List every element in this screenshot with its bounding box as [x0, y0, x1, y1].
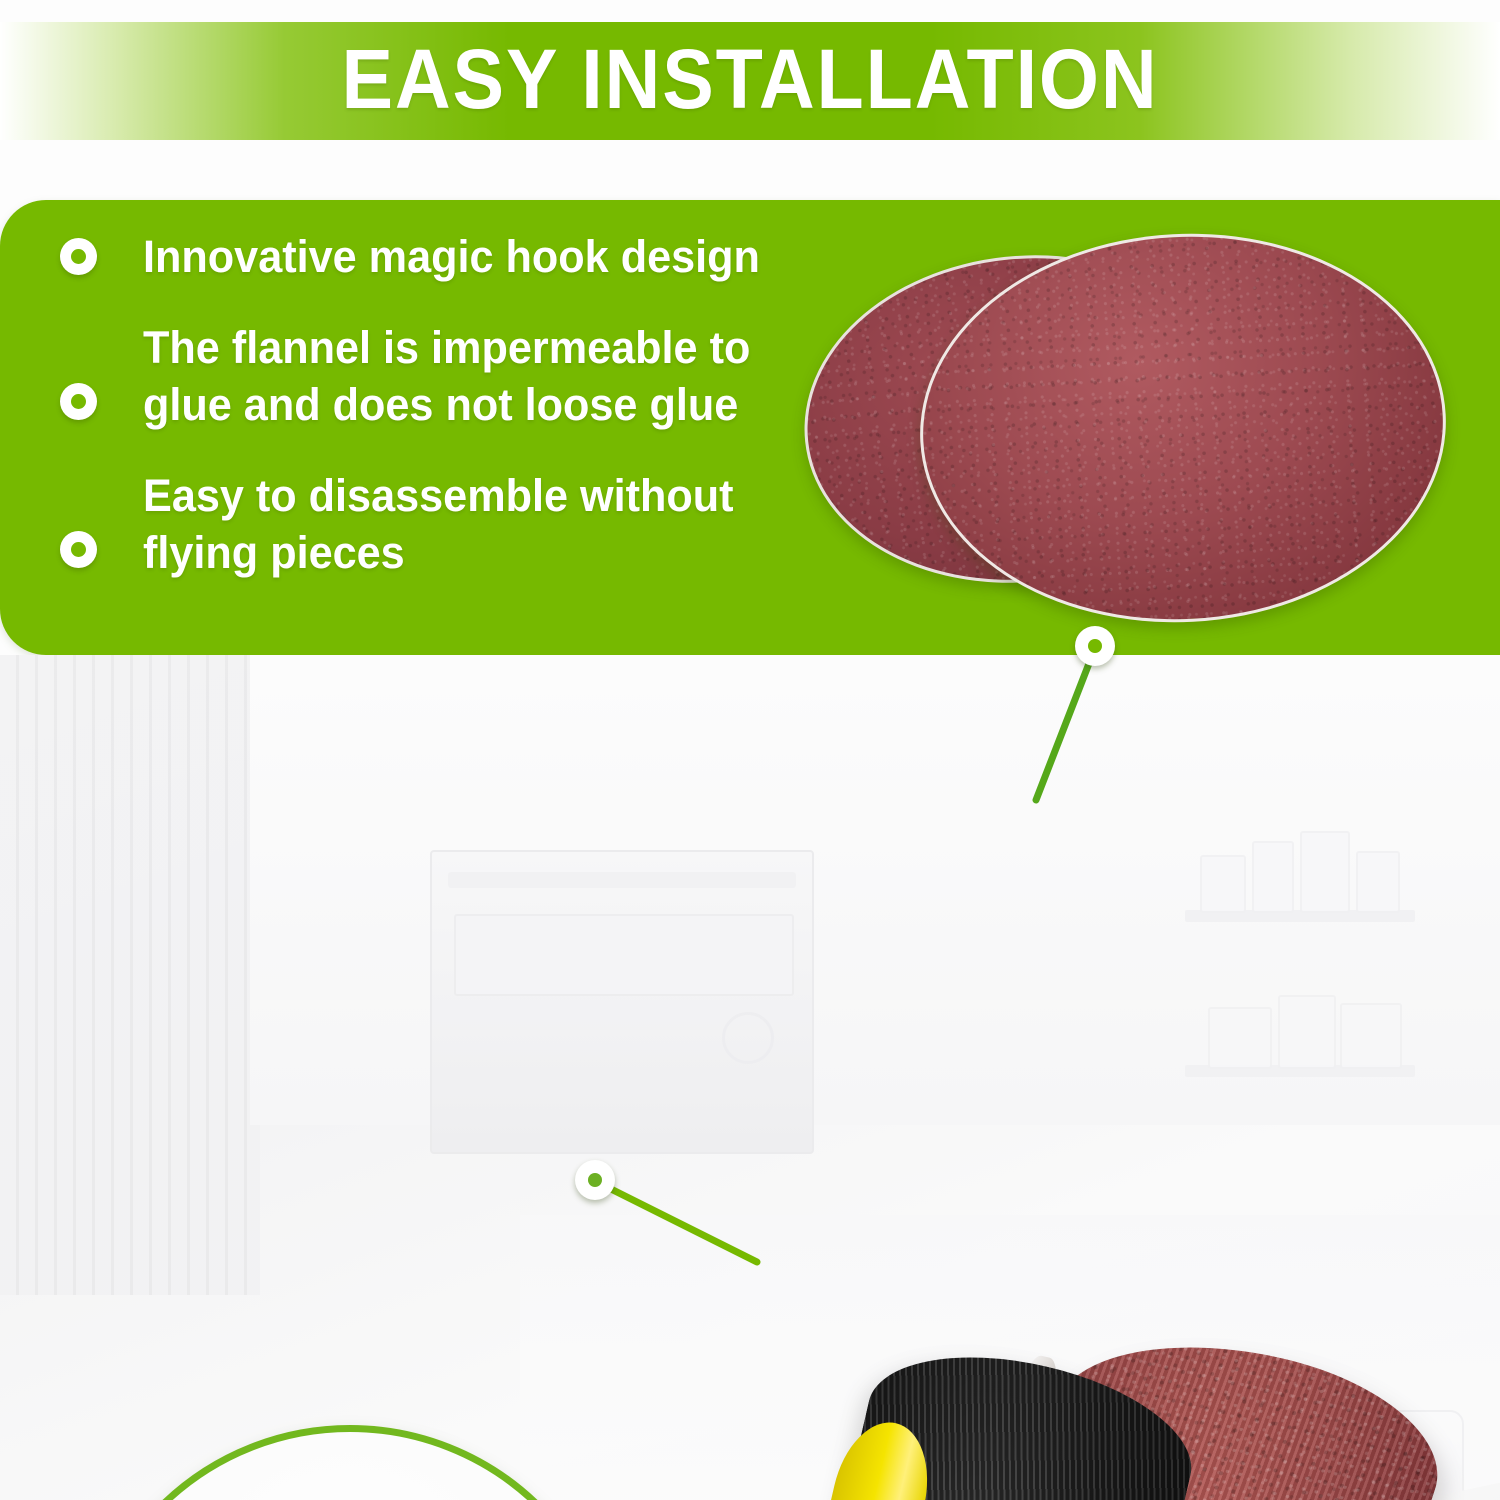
red-scouring-pads	[798, 228, 1458, 624]
photo-scene: RELEASE	[0, 655, 1500, 1500]
infographic-page: EASY INSTALLATION Innovative magic hook …	[0, 0, 1500, 1500]
oven-window	[454, 914, 794, 996]
ring-bullet-icon	[60, 531, 97, 568]
list-item: Easy to disassemble without flying piece…	[60, 467, 800, 581]
kitchen-jar	[1252, 841, 1294, 913]
kitchen-cabinet-left	[0, 655, 260, 1295]
kitchen-oven	[430, 850, 814, 1154]
callout-dot-red-pad	[1075, 626, 1115, 666]
kitchen-jar	[1300, 831, 1350, 913]
oven-handle	[448, 872, 796, 888]
ring-bullet-icon	[60, 383, 97, 420]
feature-item-label: The flannel is impermeable to glue and d…	[143, 319, 774, 433]
kitchen-box	[1208, 1007, 1272, 1069]
kitchen-box	[1278, 995, 1336, 1069]
kitchen-box	[1340, 1003, 1402, 1069]
kitchen-jar	[1356, 851, 1400, 913]
feature-list: Innovative magic hook design The flannel…	[60, 228, 800, 581]
feature-item-label: Easy to disassemble without flying piece…	[143, 467, 774, 581]
header-banner: EASY INSTALLATION	[0, 22, 1500, 140]
feature-item-label: Innovative magic hook design	[143, 228, 760, 285]
feature-panel: Innovative magic hook design The flannel…	[0, 200, 1500, 655]
ring-bullet-icon	[60, 238, 97, 275]
list-item: The flannel is impermeable to glue and d…	[60, 319, 800, 433]
hook-and-loop-backing-pad	[790, 1331, 1490, 1500]
oven-dial	[722, 1012, 774, 1064]
callout-dot-hex-shaft	[575, 1160, 615, 1200]
kitchen-jar	[1200, 855, 1246, 913]
list-item: Innovative magic hook design	[60, 228, 800, 285]
page-title: EASY INSTALLATION	[342, 37, 1159, 121]
